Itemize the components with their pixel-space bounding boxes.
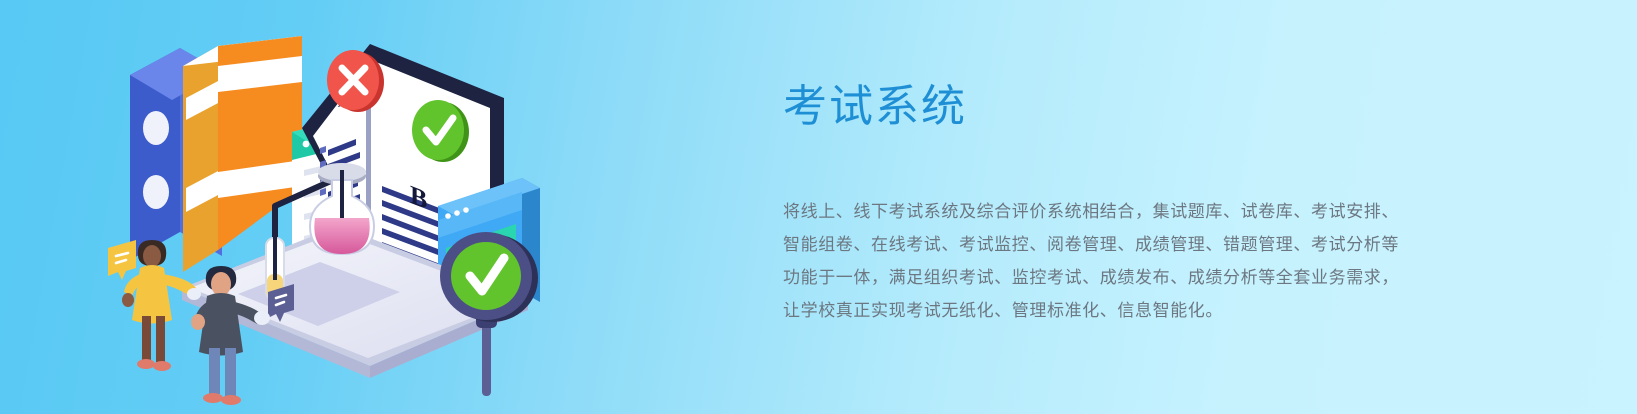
illustration-container: A B xyxy=(70,10,630,410)
chat-bubble-yellow xyxy=(108,240,136,280)
copy-block: 考试系统 将线上、线下考试系统及综合评价系统相结合，集试题库、试卷库、考试安排、… xyxy=(783,82,1503,327)
isometric-exam-illustration: A B xyxy=(70,10,630,410)
description: 将线上、线下考试系统及综合评价系统相结合，集试题库、试卷库、考试安排、 智能组卷… xyxy=(783,195,1503,327)
description-line-3: 功能于一体，满足组织考试、监控考试、成绩发布、成绩分析等全套业务需求， xyxy=(783,261,1503,294)
orange-book xyxy=(183,36,302,272)
description-line-1: 将线上、线下考试系统及综合评价系统相结合，集试题库、试卷库、考试安排、 xyxy=(783,195,1503,228)
description-line-2: 智能组卷、在线考试、考试监控、阅卷管理、成绩管理、错题管理、考试分析等 xyxy=(783,228,1503,261)
hero-banner: A B xyxy=(0,0,1637,414)
description-line-4: 让学校真正实现考试无纸化、管理标准化、信息智能化。 xyxy=(783,294,1503,327)
page-title: 考试系统 xyxy=(783,82,1503,133)
